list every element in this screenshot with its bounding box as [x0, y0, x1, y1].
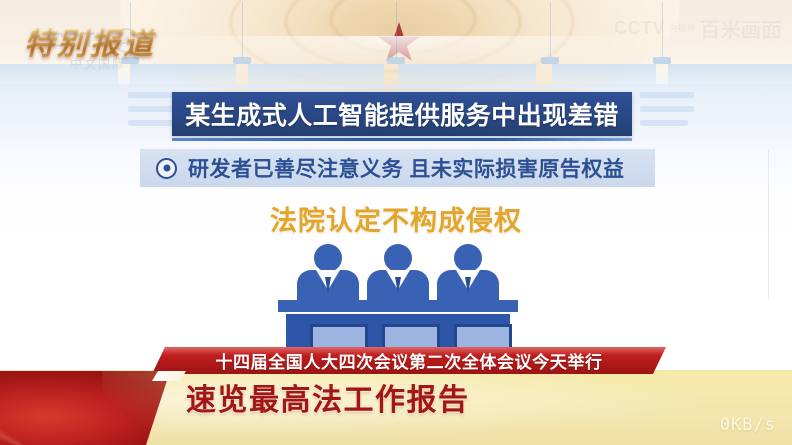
bench-top [278, 300, 518, 312]
stream-watermark: CCTV 央视频 百米画面 [614, 14, 782, 43]
banner-sub: 研发者已善尽注意义务 且未实际损害原告权益 [140, 149, 655, 187]
conclusion-line: 法院认定不构成侵权 [0, 199, 792, 238]
news-ribbon: 十四届全国人大四次会议第二次全体会议今天举行 [152, 347, 666, 374]
network-speed-indicator: 0KB/s [720, 415, 776, 435]
court-panel-illustration [278, 244, 518, 364]
watermark-sub: 央视频 [669, 23, 696, 34]
watermark-cn: 百米画面 [700, 14, 782, 43]
banner-main-underline [172, 138, 632, 141]
special-report-badge-text: 特别报道 [24, 19, 156, 63]
headline: 速览最高法工作报告 [186, 375, 470, 419]
target-bullet-icon [156, 158, 177, 179]
badge-notch [152, 371, 186, 381]
watermark-brand: CCTV [614, 18, 665, 39]
banner-main: 某生成式人工智能提供服务中出现差错 [172, 92, 632, 136]
broadcast-frame: CCTV 4 中文国际 CCTV 央视频 百米画面 某生成式人工智能提供服务中出… [0, 0, 792, 445]
news-ribbon-text: 十四届全国人大四次会议第二次全体会议今天举行 [215, 348, 602, 373]
conclusion-text: 法院认定不构成侵权 [270, 199, 522, 238]
banner-sub-text: 研发者已善尽注意义务 且未实际损害原告权益 [188, 153, 624, 183]
banner-main-text: 某生成式人工智能提供服务中出现差错 [185, 96, 619, 132]
